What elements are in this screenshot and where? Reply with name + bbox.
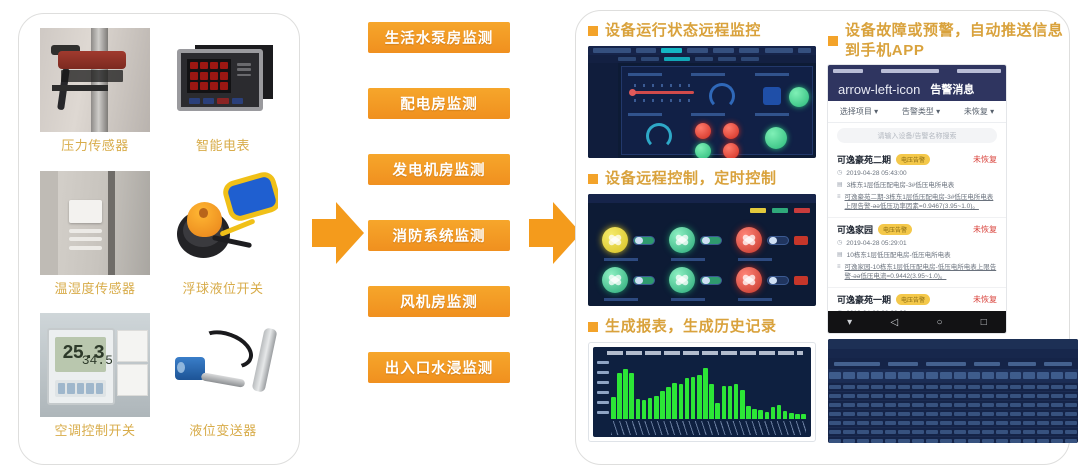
device-card-ac-control-switch[interactable]: 25.334.5 空调控制开关 xyxy=(31,313,159,454)
chart-bar xyxy=(758,410,763,419)
dashboard-body xyxy=(588,63,816,158)
monitoring-dashboard-screenshot[interactable] xyxy=(588,46,816,158)
alarm-header: 可逸豪苑二期 电压告警 未恢复 xyxy=(837,153,997,166)
power-toggle[interactable] xyxy=(767,236,789,245)
sensor-box-shape xyxy=(69,200,102,223)
square-bullet-icon xyxy=(588,322,598,332)
alarm-device-row: ▤ 10栋东1层低压配电房-低压电所电表 xyxy=(837,251,997,260)
chart-bar xyxy=(697,375,702,419)
control-unit-5[interactable] xyxy=(663,260,730,300)
vent-shape xyxy=(69,246,102,250)
chart-bar xyxy=(789,413,794,419)
home-nav-icon[interactable]: ○ xyxy=(936,317,942,328)
clamp-shape xyxy=(51,45,80,55)
alarm-status: 未恢复 xyxy=(973,224,997,235)
section-title: 设备运行状态远程监控 xyxy=(605,21,761,41)
power-toggle[interactable] xyxy=(633,236,655,245)
device-grid: 压力传感器 智能电表 xyxy=(31,28,287,454)
alarm-time-row: ◷ 2019-04-28 05:43:00 xyxy=(837,169,997,178)
dashboard-sidebar[interactable] xyxy=(588,63,618,158)
fan-icon xyxy=(602,267,628,293)
legend-running-icon xyxy=(750,208,766,213)
table-row[interactable] xyxy=(828,418,1078,427)
table-row[interactable] xyxy=(828,436,1078,443)
features-right-column: 设备故障或预警，自动推送信息到手机APP arrow-left-icon 告警消… xyxy=(828,21,1078,456)
vent-shape xyxy=(69,229,102,233)
alarm-time: 2019-04-28 05:29:01 xyxy=(846,239,906,248)
meter-buttons xyxy=(189,98,243,105)
scenario-item-power-distribution-room[interactable]: 配电房监测 xyxy=(368,88,510,119)
device-icon: ▤ xyxy=(837,181,843,190)
mobile-app-screenshot[interactable]: arrow-left-icon 告警消息 选择项目 ▾ 告警类型 ▾ 未恢复 ▾… xyxy=(828,65,1006,333)
square-bullet-icon xyxy=(588,26,598,36)
chart-bar xyxy=(715,403,720,419)
orange-float-shape xyxy=(187,202,222,237)
chart-bar xyxy=(672,383,677,419)
infographic-page: 压力传感器 智能电表 xyxy=(0,0,1080,474)
temperature-humidity-sensor-photo xyxy=(40,171,150,275)
table-row[interactable] xyxy=(828,427,1078,436)
lcd-display: 25.334.5 xyxy=(55,337,106,372)
table-row[interactable] xyxy=(828,400,1078,409)
control-legend xyxy=(750,208,810,213)
device-label: 空调控制开关 xyxy=(54,420,135,439)
legend-stopped-icon xyxy=(772,208,788,213)
alarm-device: 3栋东1层低压配电房-3#低压电所电表 xyxy=(847,181,955,190)
power-toggle[interactable] xyxy=(700,276,722,285)
level-transmitter-photo xyxy=(168,313,278,417)
alarm-list-item[interactable]: 可逸豪苑二期 电压告警 未恢复 ◷ 2019-04-28 05:43:00 ▤ … xyxy=(828,148,1006,218)
filter-status[interactable]: 未恢复 ▾ xyxy=(964,106,994,117)
device-card-float-level-switch[interactable]: 浮球液位开关 xyxy=(159,171,287,312)
dashboard-tile-row xyxy=(622,71,812,115)
alarm-project-name: 可逸豪苑一期 xyxy=(837,293,891,306)
chart-bar xyxy=(771,407,776,419)
phone-nav-title: 告警消息 xyxy=(930,81,974,97)
chart-bar xyxy=(685,378,690,419)
probe-shape xyxy=(201,372,246,388)
power-toggle[interactable] xyxy=(767,276,789,285)
fan-icon xyxy=(736,267,762,293)
chart-bar xyxy=(666,387,671,419)
arrow-right-icon xyxy=(312,202,364,264)
alarm-detail-row: ≡ 可逸家园-10栋东1层低压配电房-低压电所电表上限告警-әә低压电流=0.9… xyxy=(837,263,997,281)
collapse-icon[interactable]: ▾ xyxy=(847,317,852,328)
chart-canvas xyxy=(593,347,811,437)
led-row-1 xyxy=(190,62,228,69)
chart-bar xyxy=(691,377,696,419)
chart-bar xyxy=(636,399,641,419)
alarm-project-name: 可逸豪苑二期 xyxy=(837,153,891,166)
chart-bar xyxy=(611,397,616,419)
chart-bar xyxy=(654,396,659,419)
chart-bar xyxy=(765,412,770,419)
recents-nav-icon[interactable]: □ xyxy=(981,317,987,328)
alarm-status: 未恢复 xyxy=(973,154,997,165)
section-title: 设备远程控制，定时控制 xyxy=(605,169,777,189)
chart-bar xyxy=(728,386,733,419)
clock-icon: ◷ xyxy=(837,239,842,248)
chart-bar xyxy=(703,368,708,419)
monitoring-scenarios-list: 生活水泵房监测 配电房监测 发电机房监测 消防系统监测 风机房监测 出入口水浸监… xyxy=(368,22,516,452)
report-bar-chart-screenshot[interactable] xyxy=(588,342,816,442)
back-nav-icon[interactable]: ◁ xyxy=(890,317,898,328)
info-icon: ≡ xyxy=(837,263,841,272)
chart-bar xyxy=(709,384,714,419)
alarm-detail-row: ≡ 可逸豪苑二期-3栋东1层低压配电房-3#低压电所电表上限告警-әә低压功率因… xyxy=(837,193,997,211)
table-header-row xyxy=(828,369,1078,382)
chart-x-axis xyxy=(611,421,806,435)
fan-icon xyxy=(602,227,628,253)
filter-alarm-type[interactable]: 告警类型 ▾ xyxy=(902,106,940,117)
device-label: 温湿度传感器 xyxy=(54,278,135,297)
alarm-device-row: ▤ 3栋东1层低压配电房-3#低压电所电表 xyxy=(837,181,997,190)
vent-shape xyxy=(69,237,102,241)
alarm-time: 2019-04-28 05:43:00 xyxy=(846,169,906,178)
chart-title xyxy=(607,351,803,355)
smart-meter-photo xyxy=(168,28,278,132)
control-unit-3[interactable] xyxy=(730,220,808,260)
device-card-smart-meter[interactable]: 智能电表 xyxy=(159,28,287,169)
keypad xyxy=(55,380,106,398)
chart-y-axis xyxy=(597,361,609,419)
remote-control-screenshot[interactable] xyxy=(588,194,816,306)
meter-body-shape xyxy=(177,49,263,111)
alarm-header: 可逸豪苑一期 电压告警 未恢复 xyxy=(837,293,997,306)
meter-screen xyxy=(187,59,231,93)
float-level-switch-photo xyxy=(168,171,278,275)
arrow-right-icon xyxy=(529,202,581,264)
table-row[interactable] xyxy=(828,391,1078,400)
fault-indicator xyxy=(794,276,808,285)
phone-filter-bar: 选择项目 ▾ 告警类型 ▾ 未恢复 ▾ xyxy=(828,101,1006,123)
chart-bar xyxy=(783,411,788,419)
table-title-bar xyxy=(828,339,1078,349)
section-header-alarm-push: 设备故障或预警，自动推送信息到手机APP xyxy=(828,21,1078,61)
dashboard-subbar xyxy=(588,55,816,63)
info-icon: ≡ xyxy=(837,193,841,202)
section-header-remote-control: 设备远程控制，定时控制 xyxy=(588,169,816,189)
section-header-remote-monitoring: 设备运行状态远程监控 xyxy=(588,21,816,41)
device-label: 液位变送器 xyxy=(189,420,257,439)
scenario-item-entrance-flood[interactable]: 出入口水浸监测 xyxy=(368,352,510,383)
device-label: 智能电表 xyxy=(196,135,250,154)
arrow-left-icon[interactable]: arrow-left-icon xyxy=(838,83,920,96)
dashboard-tile-flow[interactable] xyxy=(622,111,685,155)
dashboard-tile-pressure[interactable] xyxy=(685,71,748,115)
section-header-reports: 生成报表，生成历史记录 xyxy=(588,317,816,337)
chart-bar xyxy=(648,398,653,419)
chart-bar xyxy=(752,409,757,419)
table-toolbar[interactable] xyxy=(828,358,1078,369)
device-icon: ▤ xyxy=(837,251,843,260)
device-card-pressure-sensor[interactable]: 压力传感器 xyxy=(31,28,159,169)
chart-bar xyxy=(722,386,727,419)
chart-bar xyxy=(629,373,634,419)
chart-bar xyxy=(740,390,745,419)
legend-fault-icon xyxy=(794,208,810,213)
phone-system-nav: ▾ ◁ ○ □ xyxy=(828,311,1006,333)
dashboard-topbar xyxy=(588,46,816,55)
alarm-detail: 可逸家园-10栋东1层低压配电房-低压电所电表上限告警-әә低压电流=0.944… xyxy=(845,263,997,281)
status-badge: 电压告警 xyxy=(896,294,930,305)
chart-bar xyxy=(795,414,800,419)
control-grid xyxy=(596,220,808,300)
alarm-header: 可逸家园 电压告警 未恢复 xyxy=(837,223,997,236)
chart-bars xyxy=(611,361,806,419)
dashboard-tile-row xyxy=(622,111,812,155)
device-label: 压力传感器 xyxy=(61,135,129,154)
section-title: 设备故障或预警，自动推送信息到手机APP xyxy=(845,21,1078,61)
control-unit-2[interactable] xyxy=(663,220,730,260)
search-placeholder: 请输入设备/告警名称搜索 xyxy=(878,131,957,141)
chart-bar xyxy=(660,391,665,419)
section-title: 生成报表，生成历史记录 xyxy=(605,317,777,337)
status-badge: 电压告警 xyxy=(878,224,912,235)
control-unit-6[interactable] xyxy=(730,260,808,300)
chart-bar xyxy=(679,384,684,419)
platform-features-panel: 设备运行状态远程监控 xyxy=(575,10,1070,465)
scenario-item-fire-system[interactable]: 消防系统监测 xyxy=(368,220,510,251)
chart-bar xyxy=(734,384,739,419)
alarm-time-row: ◷ 2019-04-28 05:29:01 xyxy=(837,239,997,248)
device-label: 浮球液位开关 xyxy=(182,278,263,297)
chart-bar xyxy=(777,405,782,420)
blue-float-shape xyxy=(226,176,277,218)
fan-icon xyxy=(736,227,762,253)
phone-status-bar xyxy=(828,65,1006,77)
pressure-sensor-photo xyxy=(40,28,150,132)
control-unit-1[interactable] xyxy=(596,220,663,260)
power-toggle[interactable] xyxy=(700,236,722,245)
device-card-temp-humidity-sensor[interactable]: 温湿度传感器 xyxy=(31,171,159,312)
search-input[interactable]: 请输入设备/告警名称搜索 xyxy=(837,128,997,143)
cable-shape xyxy=(57,67,69,109)
dashboard-tile-pump-status[interactable] xyxy=(685,111,748,155)
controller-body-shape: 25.334.5 xyxy=(47,328,115,405)
history-record-table-screenshot[interactable] xyxy=(828,339,1078,443)
table-row[interactable] xyxy=(828,382,1078,391)
control-unit-4[interactable] xyxy=(596,260,663,300)
fan-icon xyxy=(669,227,695,253)
dashboard-tile-level[interactable] xyxy=(622,71,685,115)
fault-indicator xyxy=(794,236,808,245)
table-breadcrumb-bar xyxy=(828,349,1078,358)
status-badge: 电压告警 xyxy=(896,154,930,165)
alarm-status: 未恢复 xyxy=(973,294,997,305)
scenario-item-fan-room[interactable]: 风机房监测 xyxy=(368,286,510,317)
accessory-tags xyxy=(117,330,148,403)
power-toggle[interactable] xyxy=(633,276,655,285)
alarm-list-item[interactable]: 可逸家园 电压告警 未恢复 ◷ 2019-04-28 05:29:01 ▤ 10… xyxy=(828,218,1006,288)
dashboard-tile-status[interactable] xyxy=(749,71,812,115)
dashboard-main xyxy=(621,66,813,155)
fan-icon xyxy=(669,267,695,293)
features-columns: 设备运行状态远程监控 xyxy=(588,21,1059,456)
led-row-2 xyxy=(190,72,228,79)
square-bullet-icon xyxy=(588,174,598,184)
meter-keypad xyxy=(234,60,254,93)
led-row-3 xyxy=(190,82,228,89)
alarm-project-name: 可逸家园 xyxy=(837,223,873,236)
control-header xyxy=(588,194,816,203)
air-conditioner-control-switch-photo: 25.334.5 xyxy=(40,313,150,417)
chart-bar xyxy=(801,414,806,419)
alarm-device: 10栋东1层低压配电房-低压电所电表 xyxy=(847,251,951,260)
chart-bar xyxy=(642,400,647,419)
steel-probe-shape xyxy=(252,327,278,393)
chart-bar xyxy=(623,369,628,419)
device-card-level-transmitter[interactable]: 液位变送器 xyxy=(159,313,287,454)
chart-bar xyxy=(746,406,751,419)
scenario-item-generator-room[interactable]: 发电机房监测 xyxy=(368,154,510,185)
alarm-detail: 可逸豪苑二期-3栋东1层低压配电房-3#低压电所电表上限告警-әә低压功率因素=… xyxy=(845,193,997,211)
scenario-item-water-pump-room[interactable]: 生活水泵房监测 xyxy=(368,22,510,53)
square-bullet-icon xyxy=(828,36,838,46)
table-row[interactable] xyxy=(828,409,1078,418)
filter-project[interactable]: 选择项目 ▾ xyxy=(840,106,878,117)
chart-bar xyxy=(617,373,622,419)
features-left-column: 设备运行状态远程监控 xyxy=(588,21,816,456)
phone-nav-bar: arrow-left-icon 告警消息 xyxy=(828,77,1006,101)
dashboard-tile-valve[interactable] xyxy=(749,111,812,155)
device-gallery-panel: 压力传感器 智能电表 xyxy=(18,13,300,465)
clock-icon: ◷ xyxy=(837,169,842,178)
